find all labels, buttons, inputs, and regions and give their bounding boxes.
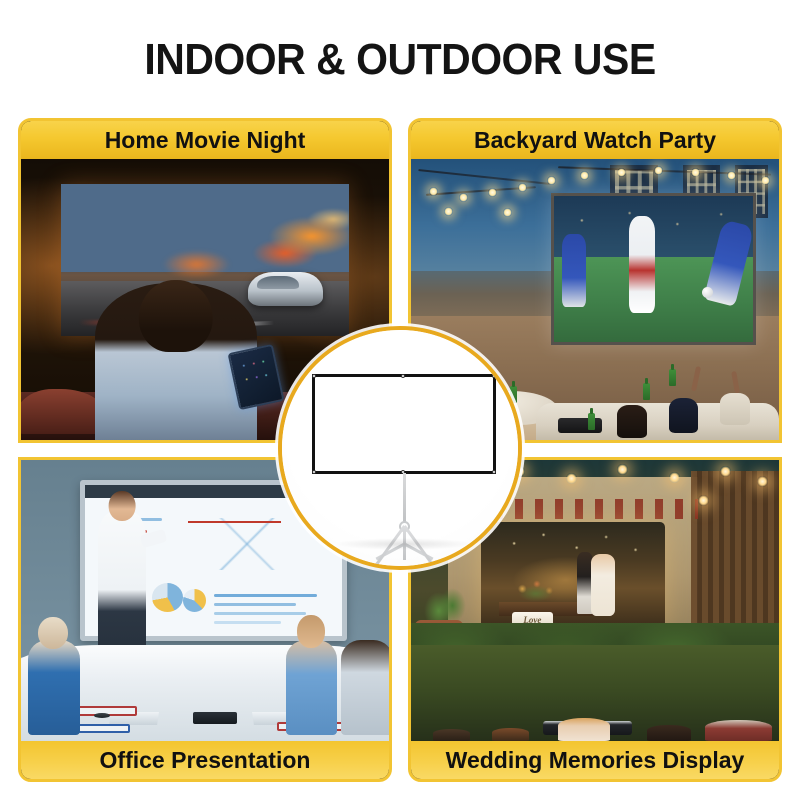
projector-screen-surface: [312, 374, 496, 474]
screen-grommet: [312, 374, 316, 378]
light-bulb: [547, 176, 556, 185]
bride: [591, 554, 615, 616]
seated-guest: [647, 725, 691, 741]
chart-bar: [214, 594, 317, 597]
spectator: [617, 405, 646, 437]
seated-guest: [705, 720, 771, 741]
spectator: [669, 398, 698, 433]
drink-bottle: [643, 383, 650, 400]
seated-colleague: [286, 640, 338, 736]
portable-speaker: [558, 418, 602, 433]
pie-chart: [183, 589, 206, 612]
product-badge-circle: [278, 326, 522, 570]
seated-guest: [492, 728, 529, 741]
spectator: [720, 393, 749, 425]
drink-bottle: [669, 369, 676, 386]
light-bulb: [503, 208, 512, 217]
lawn: [411, 645, 779, 741]
light-bulb: [444, 207, 453, 216]
movie-car: [248, 272, 323, 305]
chart-bar: [214, 603, 296, 606]
seated-colleague: [28, 640, 80, 736]
floral-arrangement: [510, 575, 565, 605]
screen-grommet: [492, 374, 496, 378]
light-bulb: [617, 168, 626, 177]
chart-bar: [214, 612, 307, 615]
raised-arm: [731, 371, 740, 394]
screen-grommet: [312, 470, 316, 474]
light-bulb: [580, 171, 589, 180]
infographic-root: INDOOR & OUTDOOR USE Home Movie Night: [0, 0, 800, 800]
screen-grommet: [401, 374, 405, 378]
light-bulb: [698, 495, 709, 506]
annotation-arrow: [188, 521, 281, 523]
panel-label-office-presentation: Office Presentation: [21, 741, 389, 779]
seated-guest: [433, 729, 470, 741]
soccer-ball: [702, 287, 713, 298]
tripod-center-pole: [403, 473, 406, 525]
light-wire: [558, 166, 771, 175]
drink-bottle: [588, 413, 595, 430]
computer-mouse: [94, 713, 110, 718]
light-bulb: [617, 464, 628, 475]
viewer-head: [138, 280, 212, 352]
screen-grommet: [492, 470, 496, 474]
tablet-remote: [228, 344, 285, 410]
panel-label-home-movie-night: Home Movie Night: [21, 121, 389, 159]
raised-arm: [691, 366, 701, 391]
seated-guest: [558, 718, 610, 741]
light-bulb: [566, 473, 577, 484]
panel-label-backyard-watch-party: Backyard Watch Party: [411, 121, 779, 159]
light-bulb: [669, 472, 680, 483]
chart-bar: [214, 621, 281, 624]
presenter-head: [109, 491, 136, 522]
light-bulb: [761, 176, 770, 185]
line-chart: [203, 518, 291, 570]
string-lights: [411, 165, 779, 249]
viewer-person: [95, 283, 257, 440]
light-bulb: [459, 193, 468, 202]
light-bulb: [757, 476, 768, 487]
light-bulb: [727, 171, 736, 180]
light-bulb: [429, 187, 438, 196]
stand-shadow: [334, 538, 474, 550]
conference-phone: [193, 712, 237, 723]
page-title: INDOOR & OUTDOOR USE: [28, 34, 772, 86]
light-bulb: [654, 166, 663, 175]
light-bulb: [691, 168, 700, 177]
light-bulb: [518, 183, 527, 192]
light-wire: [419, 169, 551, 185]
panel-label-wedding-memories-display: Wedding Memories Display: [411, 741, 779, 779]
light-bulb: [488, 188, 497, 197]
badge-background: [282, 330, 518, 566]
light-bulb: [720, 466, 731, 477]
pie-chart: [152, 583, 183, 612]
seated-colleague: [341, 640, 389, 736]
